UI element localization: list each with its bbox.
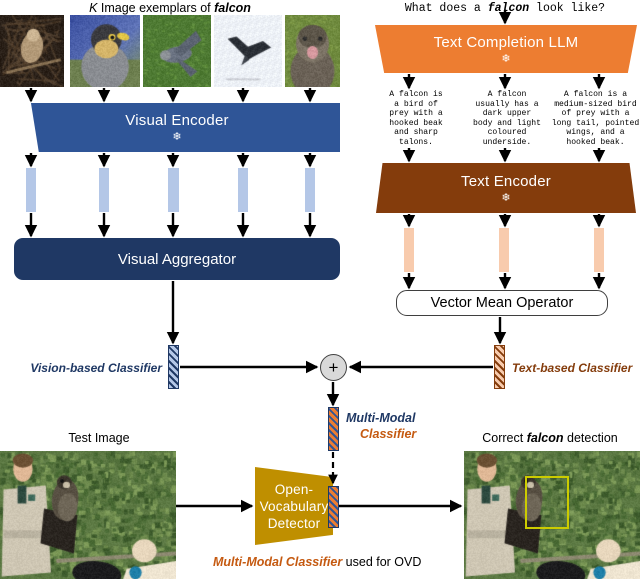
ovd-label-line1: Open- [275,481,314,498]
visual-feature-vector-5 [305,168,315,212]
vector-mean-operator-block: Vector Mean Operator [396,290,608,316]
diagram-canvas: K Image exemplars of falcon What does a … [0,0,640,579]
exemplar-image-2 [70,15,140,87]
multi-modal-classifier-vector-top [328,407,339,451]
multi-modal-label-line1: Multi-Modal [346,411,415,425]
llm-label: Text Completion LLM [434,34,579,51]
exemplar-image-4 [214,15,282,87]
detection-post: detection [564,431,618,445]
multi-modal-classifier-vector-detector [328,486,339,528]
text-encoder-block: Text Encoder ❄ [376,163,636,213]
text-completion-llm-block: Text Completion LLM ❄ [375,25,637,73]
exemplar-image-3 [143,15,211,87]
visual-aggregator-label: Visual Aggregator [118,251,236,268]
ovd-caption-em: Multi-Modal Classifier [213,555,342,569]
visual-feature-vector-2 [99,168,109,212]
multi-modal-classifier-label: Multi-Modal Classifier [346,410,416,442]
prompt-pre: What does a [405,2,488,15]
snowflake-icon: ❄ [501,53,510,65]
ovd-caption: Multi-Modal Classifier used for OVD [213,555,421,569]
text-feature-vector-1 [404,228,414,272]
llm-completion-2: A falcon usually has a dark upper body a… [461,90,553,148]
detection-class-name: falcon [527,431,564,445]
ovd-caption-rest: used for OVD [342,555,421,569]
text-feature-vector-2 [499,228,509,272]
multi-modal-label-line2: Classifier [360,426,416,442]
ovd-label-line3: Detector [268,515,321,532]
text-based-classifier-vector [494,345,505,389]
visual-feature-vector-4 [238,168,248,212]
prompt-class-name: falcon [488,2,529,15]
llm-completion-3: A falcon is a medium-sized bird of prey … [551,90,640,148]
ovd-label-line2: Vocabulary [260,498,329,515]
text-encoder-label: Text Encoder [461,173,551,190]
text-feature-vector-3 [594,228,604,272]
prompt-post: look like? [529,2,605,15]
snowflake-icon: ❄ [501,192,510,204]
vector-mean-operator-label: Vector Mean Operator [431,295,574,311]
detection-result-photo [464,451,640,579]
vision-based-classifier-label: Vision-based Classifier [28,361,162,375]
test-image-label: Test Image [19,431,179,445]
visual-feature-vector-3 [168,168,179,212]
open-vocabulary-detector-block: Open- Vocabulary Detector [255,467,333,545]
detection-result-label: Correct falcon detection [460,431,640,445]
llm-completion-1: A falcon is a bird of prey with a hooked… [374,90,458,148]
sum-node: + [320,354,347,381]
test-image-photo [0,451,176,579]
detection-bounding-box [525,476,569,529]
exemplars-class-name: falcon [214,1,251,15]
visual-feature-vector-1 [26,168,36,212]
text-based-classifier-label: Text-based Classifier [512,361,632,375]
exemplars-header: K Image exemplars of falcon [0,1,340,15]
plus-icon: + [329,359,339,376]
detection-pre: Correct [482,431,526,445]
exemplars-text: Image exemplars of [97,1,214,15]
llm-prompt-header: What does a falcon look like? [370,2,640,15]
vision-based-classifier-vector [168,345,179,389]
visual-aggregator-block: Visual Aggregator [14,238,340,280]
snowflake-icon: ❄ [172,131,181,143]
visual-encoder-label: Visual Encoder [125,112,228,129]
visual-encoder-block: Visual Encoder ❄ [14,103,340,152]
exemplar-image-1 [0,15,64,87]
exemplar-image-5 [285,15,340,87]
